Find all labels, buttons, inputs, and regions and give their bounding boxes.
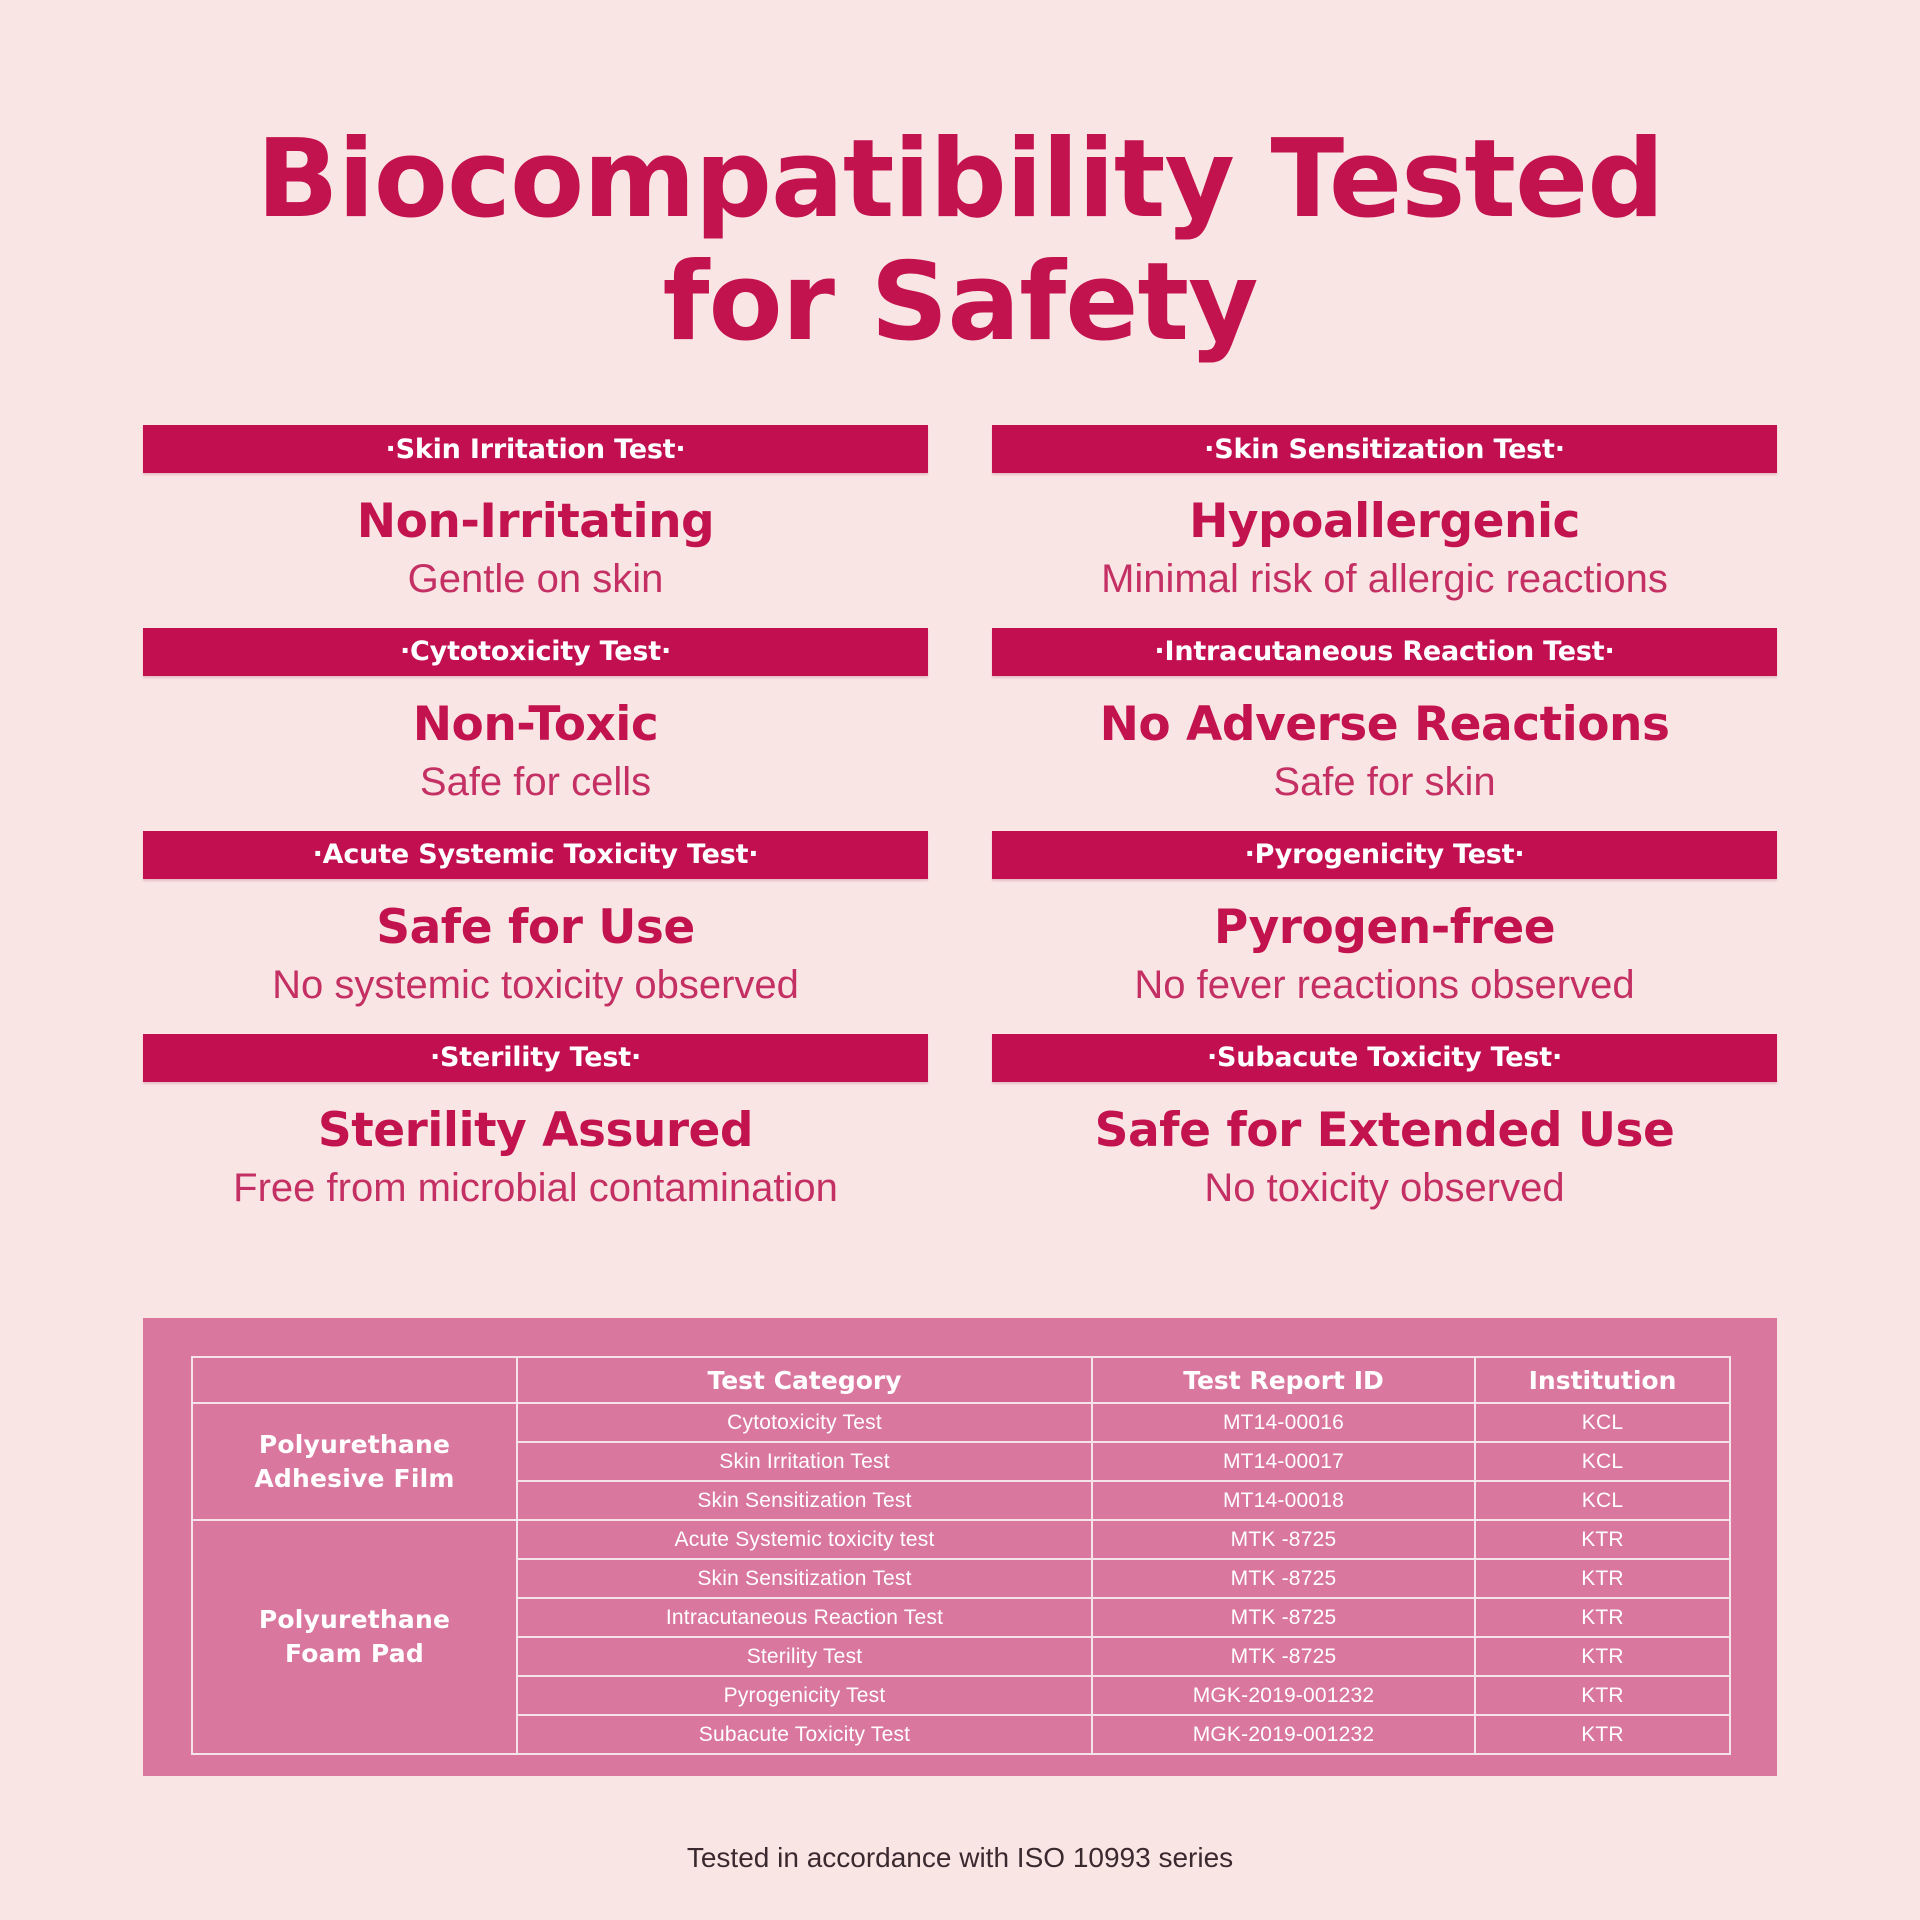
test-card-bar: ·Intracutaneous Reaction Test· — [992, 628, 1777, 676]
test-card-body: No Adverse Reactions Safe for skin — [992, 676, 1777, 807]
test-card-subtext: Gentle on skin — [143, 549, 928, 604]
test-card-bar-label: ·Sterility Test· — [430, 1042, 641, 1073]
table-row: Polyurethane Foam Pad Acute Systemic tox… — [192, 1520, 1730, 1559]
table-cell-institution: KTR — [1475, 1676, 1730, 1715]
test-card-headline: No Adverse Reactions — [992, 698, 1777, 752]
test-card-bar-label: ·Subacute Toxicity Test· — [1207, 1042, 1562, 1073]
table-cell-institution: KCL — [1475, 1442, 1730, 1481]
test-card-grid: ·Skin Irritation Test· Non-Irritating Ge… — [143, 425, 1777, 1236]
page-title-line-2: for Safety — [0, 241, 1920, 364]
table-cell-category: Pyrogenicity Test — [517, 1676, 1092, 1715]
infographic-page: Biocompatibility Tested for Safety ·Skin… — [0, 0, 1920, 1920]
table-cell-report-id: MTK -8725 — [1092, 1520, 1475, 1559]
test-card-sterility: ·Sterility Test· Sterility Assured Free … — [143, 1034, 928, 1213]
table-cell-category: Acute Systemic toxicity test — [517, 1520, 1092, 1559]
test-report-table: Test Category Test Report ID Institution… — [191, 1356, 1731, 1755]
product-line-1: Polyurethane — [259, 1430, 450, 1459]
test-card-body: Non-Irritating Gentle on skin — [143, 473, 928, 604]
table-cell-product: Polyurethane Adhesive Film — [192, 1403, 517, 1520]
table-cell-report-id: MT14-00017 — [1092, 1442, 1475, 1481]
table-cell-report-id: MTK -8725 — [1092, 1637, 1475, 1676]
test-card-bar-label: ·Skin Sensitization Test· — [1204, 434, 1565, 465]
test-card-pyrogenicity: ·Pyrogenicity Test· Pyrogen-free No feve… — [992, 831, 1777, 1010]
test-card-cytotoxicity: ·Cytotoxicity Test· Non-Toxic Safe for c… — [143, 628, 928, 807]
table-cell-report-id: MTK -8725 — [1092, 1559, 1475, 1598]
table-cell-category: Skin Sensitization Test — [517, 1481, 1092, 1520]
test-report-panel: Test Category Test Report ID Institution… — [143, 1318, 1777, 1776]
test-card-body: Safe for Use No systemic toxicity observ… — [143, 879, 928, 1010]
test-card-intracutaneous-reaction: ·Intracutaneous Reaction Test· No Advers… — [992, 628, 1777, 807]
table-header-institution: Institution — [1475, 1357, 1730, 1403]
table-header-report-id: Test Report ID — [1092, 1357, 1475, 1403]
table-cell-category: Sterility Test — [517, 1637, 1092, 1676]
product-line-1: Polyurethane — [259, 1605, 450, 1634]
test-card-subacute-toxicity: ·Subacute Toxicity Test· Safe for Extend… — [992, 1034, 1777, 1213]
test-card-headline: Pyrogen-free — [992, 901, 1777, 955]
test-card-headline: Hypoallergenic — [992, 495, 1777, 549]
page-title: Biocompatibility Tested for Safety — [0, 0, 1920, 364]
table-cell-category: Cytotoxicity Test — [517, 1403, 1092, 1442]
test-card-subtext: No fever reactions observed — [992, 955, 1777, 1010]
test-card-headline: Non-Irritating — [143, 495, 928, 549]
test-card-body: Safe for Extended Use No toxicity observ… — [992, 1082, 1777, 1213]
table-cell-category: Subacute Toxicity Test — [517, 1715, 1092, 1754]
test-card-bar-label: ·Cytotoxicity Test· — [400, 636, 671, 667]
test-card-bar: ·Subacute Toxicity Test· — [992, 1034, 1777, 1082]
table-cell-institution: KTR — [1475, 1559, 1730, 1598]
table-header-row: Test Category Test Report ID Institution — [192, 1357, 1730, 1403]
test-card-subtext: No systemic toxicity observed — [143, 955, 928, 1010]
table-cell-institution: KTR — [1475, 1520, 1730, 1559]
test-card-subtext: Minimal risk of allergic reactions — [992, 549, 1777, 604]
test-card-acute-systemic-toxicity: ·Acute Systemic Toxicity Test· Safe for … — [143, 831, 928, 1010]
table-cell-institution: KCL — [1475, 1481, 1730, 1520]
test-card-subtext: Safe for cells — [143, 752, 928, 807]
table-cell-report-id: MGK-2019-001232 — [1092, 1715, 1475, 1754]
table-cell-product: Polyurethane Foam Pad — [192, 1520, 517, 1754]
test-card-body: Pyrogen-free No fever reactions observed — [992, 879, 1777, 1010]
test-card-body: Sterility Assured Free from microbial co… — [143, 1082, 928, 1213]
test-card-subtext: Free from microbial contamination — [143, 1158, 928, 1213]
page-title-line-1: Biocompatibility Tested — [0, 118, 1920, 241]
table-header-product — [192, 1357, 517, 1403]
table-body: Polyurethane Adhesive Film Cytotoxicity … — [192, 1403, 1730, 1754]
test-card-subtext: Safe for skin — [992, 752, 1777, 807]
table-cell-report-id: MT14-00018 — [1092, 1481, 1475, 1520]
table-header: Test Category Test Report ID Institution — [192, 1357, 1730, 1403]
test-card-bar-label: ·Intracutaneous Reaction Test· — [1154, 636, 1614, 667]
test-card-bar-label: ·Skin Irritation Test· — [386, 434, 686, 465]
table-cell-institution: KTR — [1475, 1637, 1730, 1676]
test-card-body: Hypoallergenic Minimal risk of allergic … — [992, 473, 1777, 604]
test-card-headline: Safe for Extended Use — [992, 1104, 1777, 1158]
table-cell-category: Intracutaneous Reaction Test — [517, 1598, 1092, 1637]
test-card-bar: ·Cytotoxicity Test· — [143, 628, 928, 676]
footer-note: Tested in accordance with ISO 10993 seri… — [0, 1842, 1920, 1874]
table-cell-institution: KCL — [1475, 1403, 1730, 1442]
test-card-bar: ·Pyrogenicity Test· — [992, 831, 1777, 879]
table-cell-report-id: MGK-2019-001232 — [1092, 1676, 1475, 1715]
table-cell-category: Skin Irritation Test — [517, 1442, 1092, 1481]
test-card-body: Non-Toxic Safe for cells — [143, 676, 928, 807]
test-card-skin-sensitization: ·Skin Sensitization Test· Hypoallergenic… — [992, 425, 1777, 604]
test-card-headline: Non-Toxic — [143, 698, 928, 752]
test-card-bar: ·Sterility Test· — [143, 1034, 928, 1082]
test-card-subtext: No toxicity observed — [992, 1158, 1777, 1213]
test-card-bar: ·Skin Irritation Test· — [143, 425, 928, 473]
test-card-headline: Safe for Use — [143, 901, 928, 955]
table-cell-report-id: MTK -8725 — [1092, 1598, 1475, 1637]
test-card-bar-label: ·Acute Systemic Toxicity Test· — [313, 839, 759, 870]
table-row: Polyurethane Adhesive Film Cytotoxicity … — [192, 1403, 1730, 1442]
test-card-skin-irritation: ·Skin Irritation Test· Non-Irritating Ge… — [143, 425, 928, 604]
test-card-bar-label: ·Pyrogenicity Test· — [1245, 839, 1525, 870]
test-card-bar: ·Acute Systemic Toxicity Test· — [143, 831, 928, 879]
table-cell-category: Skin Sensitization Test — [517, 1559, 1092, 1598]
test-card-bar: ·Skin Sensitization Test· — [992, 425, 1777, 473]
table-cell-institution: KTR — [1475, 1715, 1730, 1754]
table-cell-report-id: MT14-00016 — [1092, 1403, 1475, 1442]
table-header-category: Test Category — [517, 1357, 1092, 1403]
product-line-2: Adhesive Film — [254, 1464, 454, 1493]
table-cell-institution: KTR — [1475, 1598, 1730, 1637]
product-line-2: Foam Pad — [285, 1639, 424, 1668]
test-card-headline: Sterility Assured — [143, 1104, 928, 1158]
